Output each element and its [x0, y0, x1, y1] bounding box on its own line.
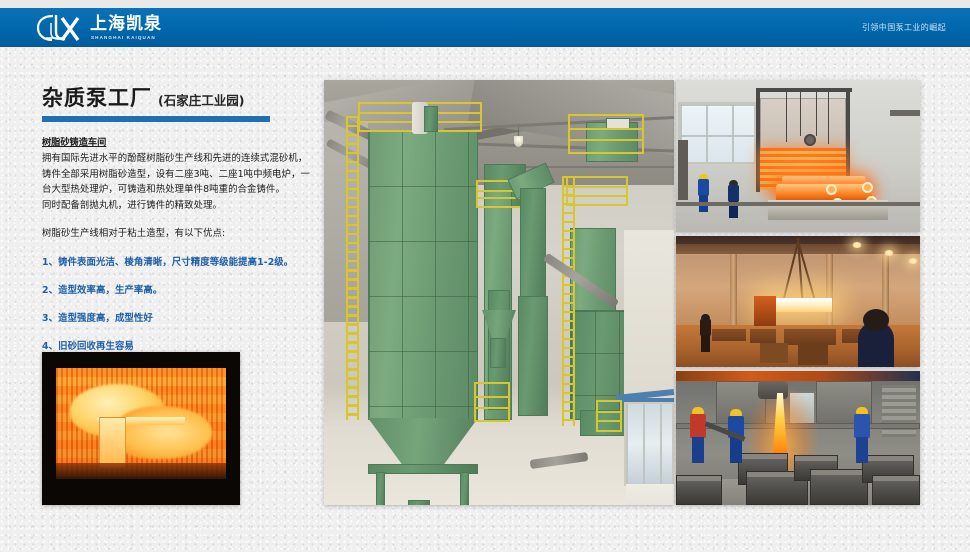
presentation-slide: 上海凯泉 SHANGHAI KAIQUAN 引领中国泵工业的崛起 杂质泵工厂 (… — [0, 0, 970, 552]
brand-name-cn: 上海凯泉 — [90, 15, 162, 34]
resin-sand-plant-photo[interactable] — [324, 80, 674, 505]
sand-silo — [368, 130, 478, 420]
worker-figure — [698, 174, 709, 212]
worker-figure — [700, 314, 711, 352]
kaiquan-pump-logo-icon — [36, 13, 84, 43]
brand-logo-text: 上海凯泉 SHANGHAI KAIQUAN — [90, 15, 162, 41]
crane-lifting-hot-workpiece-photo[interactable] — [676, 236, 920, 367]
pouring-ladle — [758, 381, 788, 399]
advantage-item-1: 1、铸件表面光洁、棱角清晰，尺寸精度等级能提高1-2级。 — [42, 256, 314, 270]
paragraph-2: 同时配备剖抛丸机，进行铸件的精致处理。 — [42, 198, 314, 214]
paragraph-1: 拥有国际先进水平的酚醛树脂砂生产线和先进的连续式混砂机，铸件全部采用树脂砂造型，… — [42, 151, 314, 198]
molten-metal-pouring-photo[interactable] — [676, 371, 920, 505]
worker-figure — [728, 180, 739, 218]
foreground-silhouette — [858, 321, 894, 367]
workshop-window — [678, 102, 756, 164]
page-title: 杂质泵工厂 (石家庄工业园) — [42, 82, 314, 112]
stairs — [882, 385, 916, 437]
worker-figure — [690, 407, 706, 463]
advantage-item-3: 3、造型强度高，成型性好 — [42, 312, 314, 326]
top-strip — [0, 0, 970, 8]
heat-treatment-furnace-photo[interactable] — [676, 80, 920, 232]
brand-logo[interactable]: 上海凯泉 SHANGHAI KAIQUAN — [36, 12, 162, 44]
section-subheading: 树脂砂铸造车间 — [42, 136, 314, 150]
body-text: 树脂砂铸造车间 拥有国际先进水平的酚醛树脂砂生产线和先进的连续式混砂机，铸件全部… — [42, 136, 314, 354]
advantage-item-4: 4、旧砂回收再生容易 — [42, 340, 314, 354]
worker-figure — [854, 407, 870, 463]
hot-casting — [114, 406, 213, 459]
brand-name-en: SHANGHAI KAIQUAN — [90, 34, 162, 41]
advantage-item-2: 2、造型效率高，生产率高。 — [42, 284, 314, 298]
slide-header: 上海凯泉 SHANGHAI KAIQUAN 引领中国泵工业的崛起 — [0, 8, 970, 47]
text-column: 杂质泵工厂 (石家庄工业园) 树脂砂铸造车间 拥有国际先进水平的酚醛树脂砂生产线… — [42, 82, 314, 354]
paragraph-3: 树脂砂生产线相对于粘土造型，有以下优点: — [42, 226, 314, 242]
furnace-interior-glow-photo[interactable] — [42, 352, 240, 505]
page-title-main: 杂质泵工厂 — [42, 82, 152, 112]
title-underline-bar — [42, 116, 270, 122]
page-title-sub: (石家庄工业园) — [158, 90, 244, 109]
header-slogan: 引领中国泵工业的崛起 — [862, 8, 946, 47]
crane-hook-icon — [804, 134, 816, 146]
furnace-interior — [56, 368, 226, 479]
